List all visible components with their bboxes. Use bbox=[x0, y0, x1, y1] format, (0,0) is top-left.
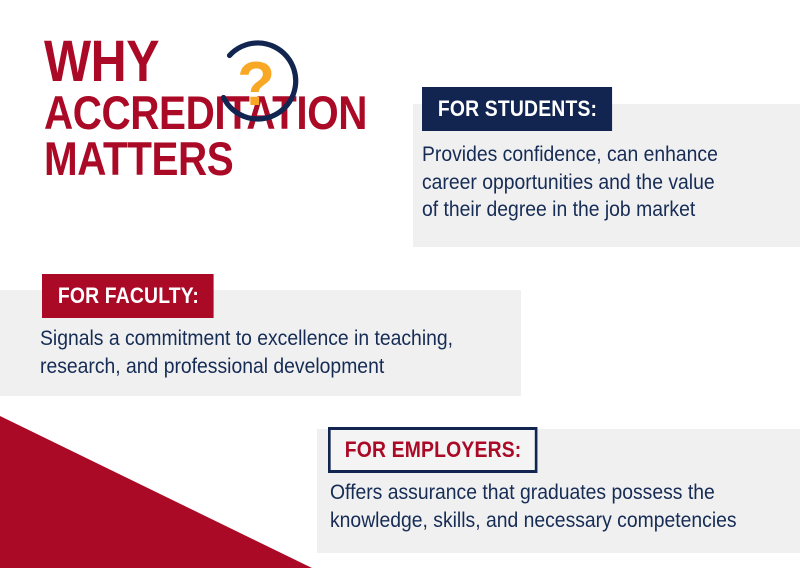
students-body-line-3: of their degree in the job market bbox=[422, 196, 718, 224]
title-line-2: ACCREDITATION bbox=[44, 90, 354, 136]
bottom-left-crimson-triangle bbox=[0, 416, 312, 568]
card-body-employers: Offers assurance that graduates possess … bbox=[330, 479, 737, 534]
card-body-faculty: Signals a commitment to excellence in te… bbox=[40, 325, 453, 380]
card-label-employers: FOR EMPLOYERS: bbox=[328, 427, 537, 473]
question-mark-glyph: ? bbox=[237, 50, 275, 119]
title-line-3: MATTERS bbox=[44, 136, 354, 182]
students-body-line-1: Provides confidence, can enhance bbox=[422, 141, 718, 169]
employers-body-line-2: knowledge, skills, and necessary compete… bbox=[330, 507, 737, 535]
faculty-body-line-2: research, and professional development bbox=[40, 353, 453, 381]
infographic-canvas: WHY ACCREDITATION MATTERS ? FOR STUDENTS… bbox=[0, 0, 800, 568]
students-body-line-2: career opportunities and the value bbox=[422, 169, 718, 197]
card-label-faculty: FOR FACULTY: bbox=[42, 274, 214, 318]
title-line-1: WHY bbox=[44, 34, 354, 90]
faculty-body-line-1: Signals a commitment to excellence in te… bbox=[40, 325, 453, 353]
question-mark-circle-icon: ? bbox=[207, 35, 303, 131]
card-body-students: Provides confidence, can enhance career … bbox=[422, 141, 718, 224]
employers-body-line-1: Offers assurance that graduates possess … bbox=[330, 479, 737, 507]
card-label-students: FOR STUDENTS: bbox=[422, 87, 612, 131]
